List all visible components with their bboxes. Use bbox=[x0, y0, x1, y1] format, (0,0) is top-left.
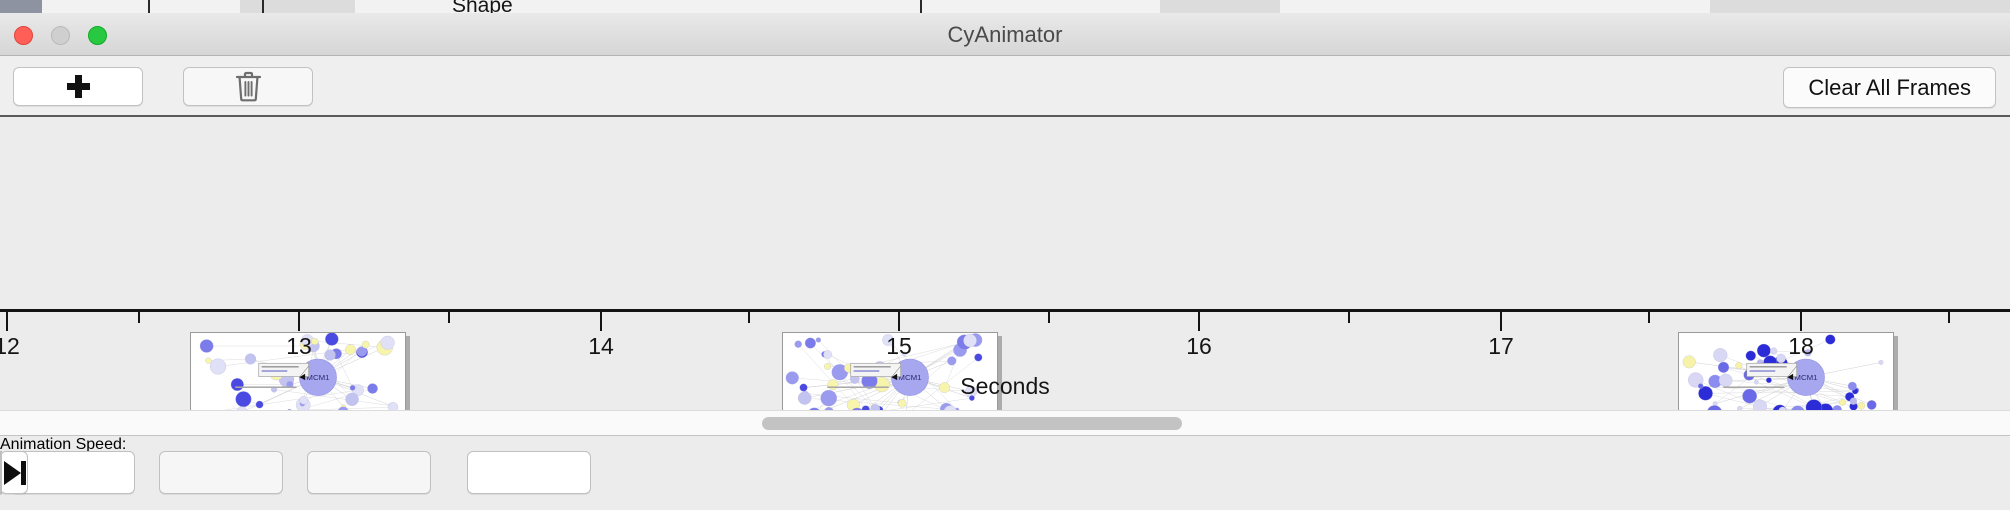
play-button[interactable] bbox=[11, 451, 135, 494]
stop-button[interactable] bbox=[307, 451, 431, 494]
axis-title: Seconds bbox=[0, 373, 2010, 400]
tick-minor bbox=[1348, 312, 1350, 323]
bg-tick bbox=[148, 0, 150, 13]
playback-bar: Animation Speed: bbox=[0, 436, 2010, 510]
record-button[interactable] bbox=[0, 451, 2, 494]
tick-minor bbox=[1948, 312, 1950, 323]
timeline-scrollbar[interactable] bbox=[0, 410, 2010, 436]
bg-chunk bbox=[42, 0, 241, 13]
timeline-panel[interactable]: MCM1MCM1MCM1 12131415161718 Seconds bbox=[0, 117, 2010, 410]
bg-tick bbox=[920, 0, 922, 13]
clear-all-frames-button[interactable]: Clear All Frames bbox=[1783, 67, 1996, 108]
title-bar: CyAnimator bbox=[0, 13, 2010, 56]
background-window-strip: Shape bbox=[0, 0, 2010, 13]
bg-chunk bbox=[240, 0, 356, 13]
add-frame-button[interactable] bbox=[13, 67, 143, 106]
tick-label: 14 bbox=[588, 333, 614, 360]
bg-chunk bbox=[1160, 0, 1281, 13]
scrollbar-thumb[interactable] bbox=[762, 417, 1182, 430]
skip-forward-icon bbox=[1, 460, 27, 486]
tick-major bbox=[6, 312, 8, 331]
tick-major bbox=[298, 312, 300, 331]
tick-label: 17 bbox=[1488, 333, 1514, 360]
tick-major bbox=[1198, 312, 1200, 331]
timeline-axis bbox=[0, 309, 2010, 312]
toolbar: Clear All Frames bbox=[0, 56, 2010, 117]
trash-icon bbox=[235, 71, 262, 102]
tick-major bbox=[600, 312, 602, 331]
tick-label: 16 bbox=[1186, 333, 1212, 360]
tick-major bbox=[1500, 312, 1502, 331]
bg-chunk bbox=[1280, 0, 1711, 13]
tick-label: 15 bbox=[886, 333, 912, 360]
animation-speed-label: Animation Speed: bbox=[0, 436, 2010, 454]
clear-all-frames-label: Clear All Frames bbox=[1808, 75, 1971, 101]
cyanimator-window: Shape CyAnimator Clear All Frames MCM1MC… bbox=[0, 0, 2010, 510]
tick-major bbox=[1800, 312, 1802, 331]
tick-major bbox=[898, 312, 900, 331]
tick-minor bbox=[1048, 312, 1050, 323]
tick-label: 13 bbox=[286, 333, 312, 360]
bg-tick bbox=[262, 0, 264, 13]
pause-button[interactable] bbox=[159, 451, 283, 494]
tick-minor bbox=[748, 312, 750, 323]
plus-icon bbox=[66, 74, 91, 99]
tick-label: 18 bbox=[1788, 333, 1814, 360]
bg-chunk bbox=[840, 0, 1161, 13]
tick-minor bbox=[1648, 312, 1650, 323]
bg-chunk bbox=[1710, 0, 2010, 13]
background-shape-text: Shape bbox=[452, 0, 513, 13]
tick-minor bbox=[138, 312, 140, 323]
tick-minor bbox=[448, 312, 450, 323]
prev-frame-button[interactable] bbox=[467, 451, 591, 494]
bg-chunk bbox=[0, 0, 43, 13]
bg-chunk bbox=[355, 0, 451, 13]
window-title: CyAnimator bbox=[0, 13, 2010, 56]
delete-frame-button[interactable] bbox=[183, 67, 313, 106]
next-frame-button[interactable] bbox=[0, 451, 28, 494]
tick-label: 12 bbox=[0, 333, 20, 360]
